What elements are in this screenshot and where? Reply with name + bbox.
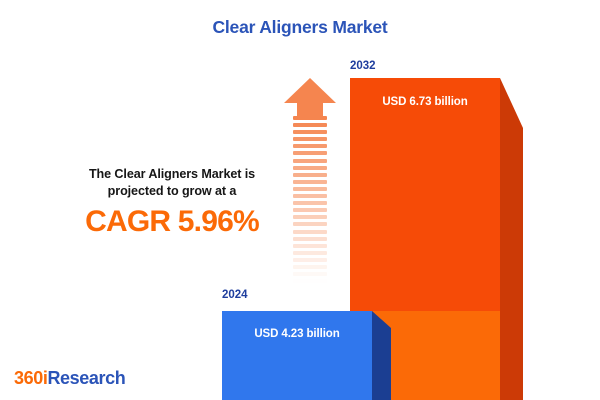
arrow-stripe <box>293 208 327 212</box>
arrow-stripe <box>293 222 327 226</box>
brand-logo-part-a: 360i <box>14 368 47 388</box>
arrow-stripe <box>293 286 327 290</box>
infographic-canvas: Clear Aligners Market The Clear Aligners… <box>0 0 600 400</box>
arrow-stripe <box>293 137 327 141</box>
arrow-stripe <box>293 166 327 170</box>
arrow-stripe <box>293 116 327 120</box>
arrow-stripe <box>293 180 327 184</box>
arrow-stripe <box>293 237 327 241</box>
arrow-stripe <box>293 201 327 205</box>
bar-2032-front-upper <box>350 78 500 311</box>
arrow-stripe <box>293 230 327 234</box>
arrow-stripe <box>293 144 327 148</box>
bar-2032-value-label: USD 6.73 billion <box>350 96 500 108</box>
bar-2032-side-face <box>500 78 523 400</box>
arrow-stripe <box>293 279 327 283</box>
brand-logo-part-b: Research <box>47 368 125 388</box>
arrow-stripe <box>293 251 327 255</box>
bar-2024-value-label: USD 4.23 billion <box>222 328 372 340</box>
arrow-head-icon <box>284 78 336 116</box>
narrative-line-1: The Clear Aligners Market is <box>38 166 306 183</box>
arrow-stripe <box>293 272 327 276</box>
arrow-stripe <box>293 293 327 297</box>
page-title: Clear Aligners Market <box>0 17 600 38</box>
narrative-block: The Clear Aligners Market is projected t… <box>38 166 306 239</box>
arrow-stripe <box>293 265 327 269</box>
arrow-stripe-stack <box>293 116 327 294</box>
arrow-stripe <box>293 123 327 127</box>
arrow-stripe <box>293 159 327 163</box>
bar-label-2032: 2032 <box>350 60 376 72</box>
arrow-stripe <box>293 215 327 219</box>
bar-2024-front <box>222 311 372 400</box>
growth-arrow-up-icon <box>284 78 336 294</box>
arrow-stripe <box>293 173 327 177</box>
arrow-stripe <box>293 258 327 262</box>
narrative-line-2: projected to grow at a <box>38 183 306 200</box>
arrow-stripe <box>293 187 327 191</box>
arrow-stripe <box>293 151 327 155</box>
arrow-stripe <box>293 130 327 134</box>
brand-logo[interactable]: 360iResearch <box>14 368 125 389</box>
arrow-stripe <box>293 244 327 248</box>
bar-label-2024: 2024 <box>222 289 248 301</box>
arrow-stripe <box>293 194 327 198</box>
cagr-value: CAGR 5.96% <box>38 205 306 239</box>
